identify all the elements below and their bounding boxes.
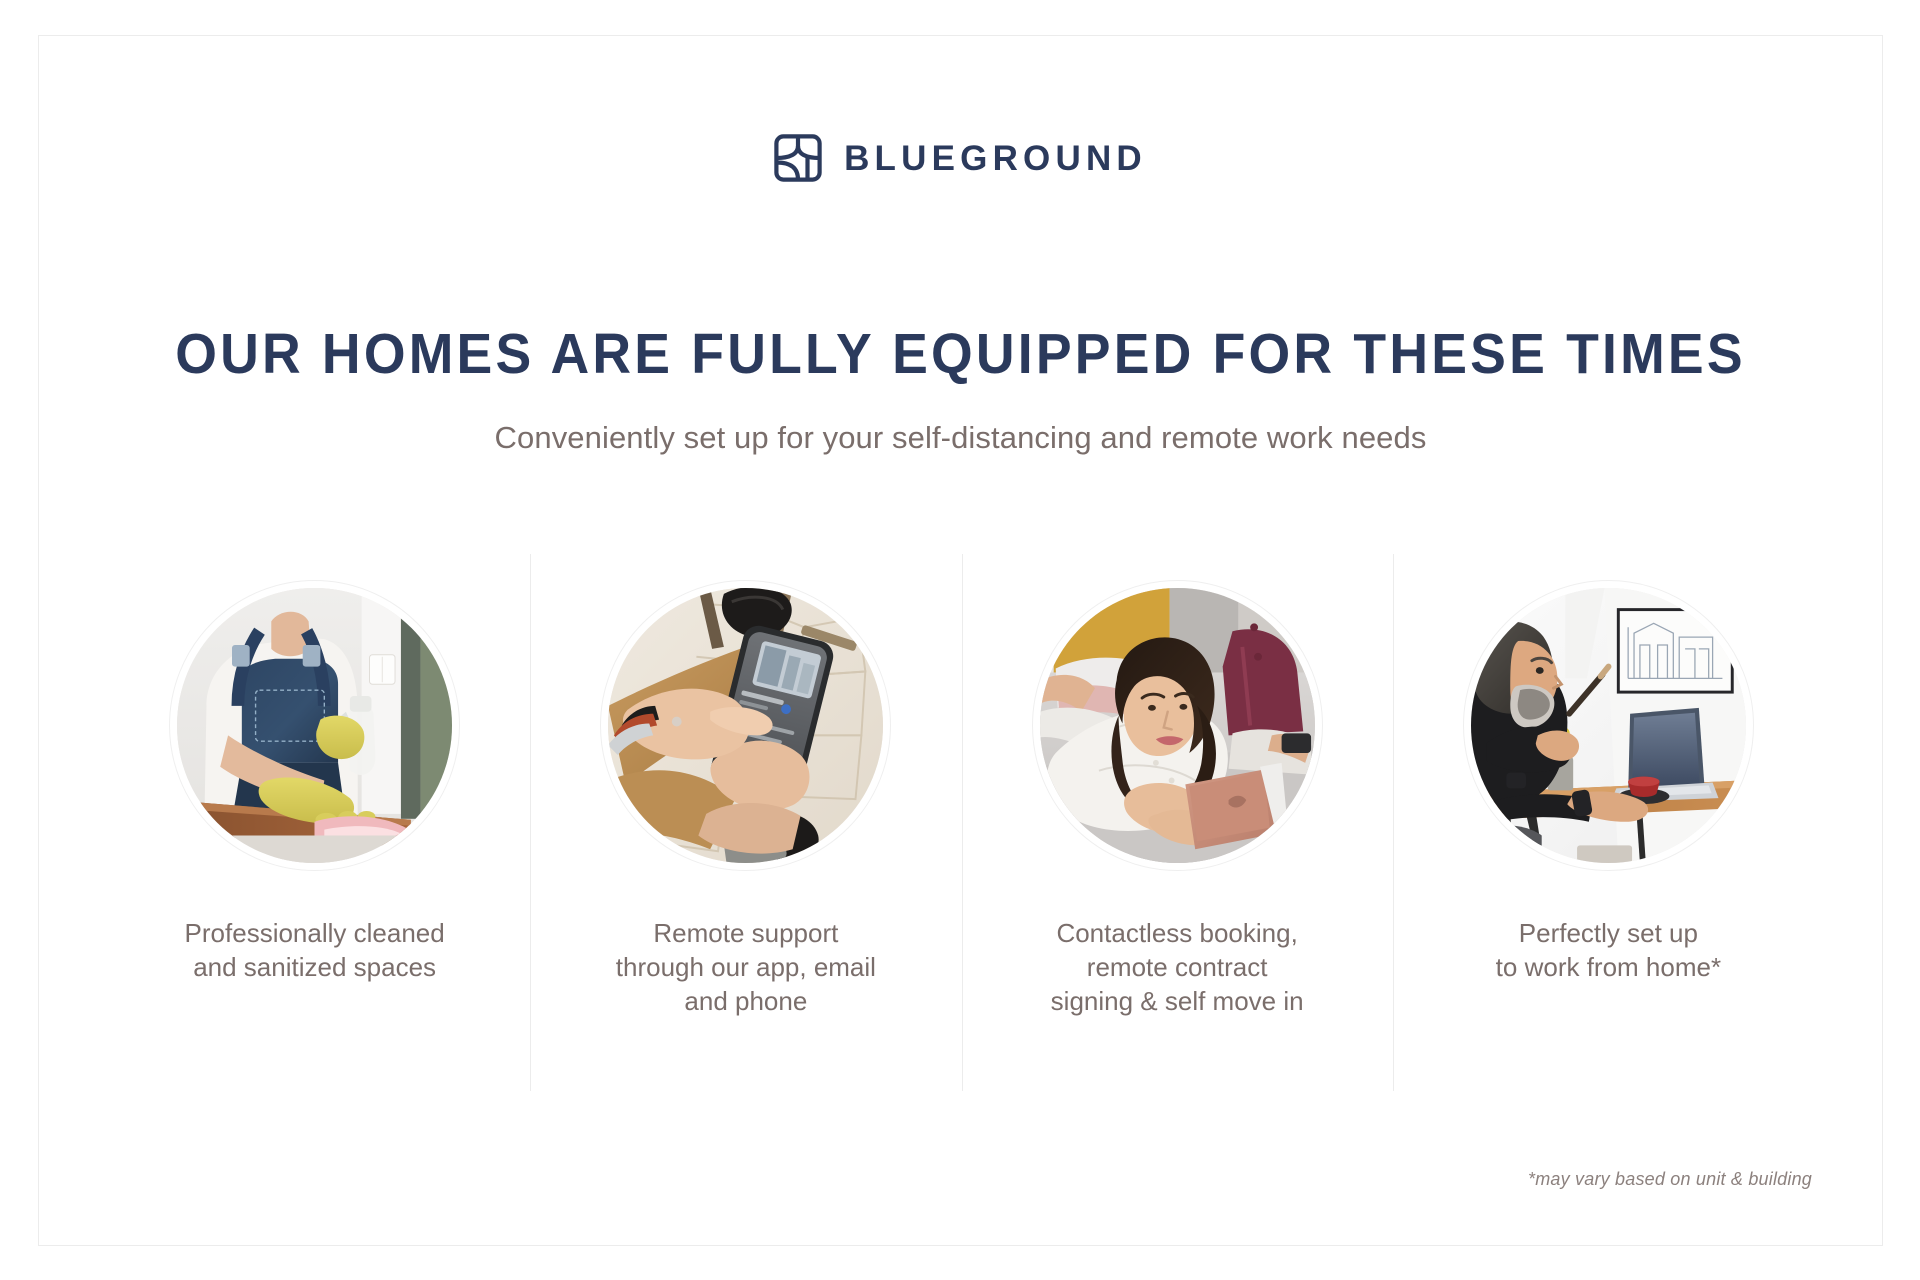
- photo-ring-remote-support: [600, 580, 891, 871]
- footnote-disclaimer: *may vary based on unit & building: [1528, 1169, 1812, 1190]
- feature-column-work-from-home: Perfectly set up to work from home*: [1393, 554, 1824, 1091]
- photo-ring-work-from-home: [1463, 580, 1754, 871]
- photo-work-from-home: [1471, 588, 1746, 863]
- photo-ring-contactless-booking: [1032, 580, 1323, 871]
- page-title: OUR HOMES ARE FULLY EQUIPPED FOR THESE T…: [94, 325, 1826, 385]
- feature-column-cleaning: Professionally cleaned and sanitized spa…: [99, 554, 530, 1091]
- feature-caption-contactless-booking: Contactless booking, remote contract sig…: [1051, 917, 1304, 1018]
- blueground-square-logo-icon: [774, 134, 822, 182]
- feature-columns: Professionally cleaned and sanitized spa…: [99, 554, 1824, 1091]
- brand-lockup: BLUEGROUND: [39, 134, 1882, 182]
- feature-caption-cleaning: Professionally cleaned and sanitized spa…: [185, 917, 445, 985]
- photo-remote-support: [608, 588, 883, 863]
- poster-frame: BLUEGROUND OUR HOMES ARE FULLY EQUIPPED …: [38, 35, 1883, 1246]
- feature-column-contactless-booking: Contactless booking, remote contract sig…: [962, 554, 1393, 1091]
- photo-cleaning: [177, 588, 452, 863]
- feature-caption-remote-support: Remote support through our app, email an…: [616, 917, 876, 1018]
- brand-wordmark: BLUEGROUND: [844, 141, 1147, 176]
- page-subtitle: Conveniently set up for your self-distan…: [39, 419, 1882, 456]
- photo-ring-cleaning: [169, 580, 460, 871]
- feature-column-remote-support: Remote support through our app, email an…: [530, 554, 961, 1091]
- feature-caption-work-from-home: Perfectly set up to work from home*: [1496, 917, 1721, 985]
- photo-contactless-booking: [1040, 588, 1315, 863]
